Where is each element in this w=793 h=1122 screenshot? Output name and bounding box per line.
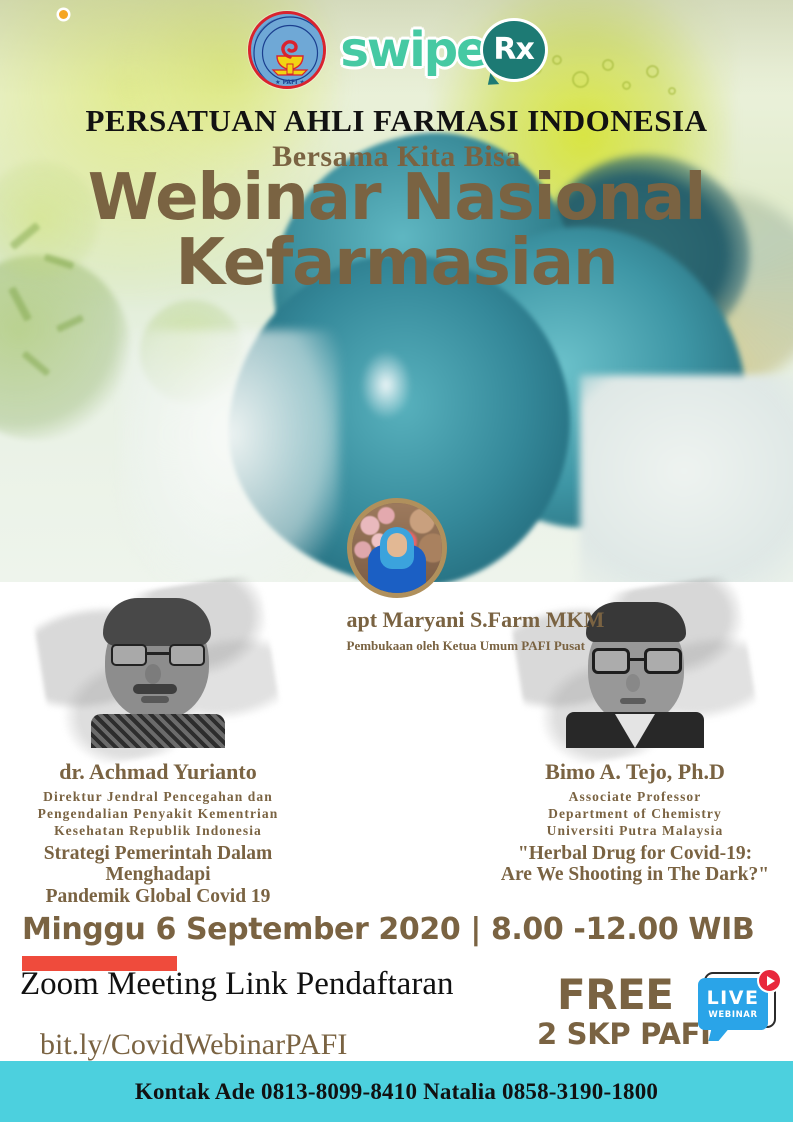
- avatar: [347, 498, 447, 598]
- registration-link[interactable]: bit.ly/CovidWebinarPAFI: [40, 1028, 347, 1062]
- platform-registration-line: Zoom Meeting Link Pendaftaran: [20, 966, 453, 1003]
- speaker-left-topic-line-2: Pandemik Global Covid 19: [8, 886, 308, 908]
- rx-bubble-icon: Rx: [483, 21, 545, 79]
- swipe-wordmark: swipe: [340, 26, 486, 74]
- svg-text:★ PAFI ★: ★ PAFI ★: [275, 79, 305, 86]
- badge-webinar-label: WEBINAR: [708, 1010, 757, 1020]
- speaker-left-topic: Strategi Pemerintah Dalam Menghadapi Pan…: [8, 843, 308, 908]
- webinar-poster: ★ PAFI ★ swipe Rx PERSATUAN AHLI FARMASI…: [0, 0, 793, 1122]
- speaker-right-topic: "Herbal Drug for Covid-19: Are We Shooti…: [485, 843, 785, 887]
- speaker-left-name: dr. Achmad Yurianto: [8, 759, 308, 785]
- lab-coat: [120, 330, 340, 585]
- contact-text: Kontak Ade 0813-8099-8410 Natalia 0858-3…: [135, 1079, 658, 1105]
- speaker-right-role-line-1: Associate Professor: [485, 789, 785, 806]
- speaker-right-role-line-3: Universiti Putra Malaysia: [485, 823, 785, 840]
- badge-live-label: LIVE: [707, 989, 760, 1008]
- speaker-left-topic-line-1: Strategi Pemerintah Dalam Menghadapi: [8, 843, 308, 887]
- speaker-left-photo: [43, 590, 273, 755]
- speaker-left-role-line-1: Direktur Jendral Pencegahan dan: [8, 789, 308, 806]
- speaker-right-role: Associate Professor Department of Chemis…: [485, 789, 785, 840]
- speaker-left-role-line-2: Pengendalian Penyakit Kementrian: [8, 806, 308, 823]
- organization-title: PERSATUAN AHLI FARMASI INDONESIA: [0, 103, 793, 139]
- speaker-right-topic-line-1: "Herbal Drug for Covid-19:: [485, 843, 785, 865]
- speaker-left-role: Direktur Jendral Pencegahan dan Pengenda…: [8, 789, 308, 840]
- speaker-right-topic-line-2: Are We Shooting in The Dark?": [485, 864, 785, 886]
- speaker-right-role-line-2: Department of Chemistry: [485, 806, 785, 823]
- speaker-left-role-line-3: Kesehatan Republik Indonesia: [8, 823, 308, 840]
- speaker-center: apt Maryani S.Farm MKM Pembukaan oleh Ke…: [347, 498, 447, 654]
- main-title-line-1: Webinar Nasional: [0, 168, 793, 229]
- event-date-time: Minggu 6 September 2020 | 8.00 -12.00 WI…: [22, 912, 754, 947]
- credits-label: 2 SKP PAFI: [537, 1017, 711, 1051]
- speaker-right-name: Bimo A. Tejo, Ph.D: [485, 759, 785, 785]
- pafi-logo-icon: ★ PAFI ★: [248, 11, 326, 89]
- main-title: Webinar Nasional Kefarmasian: [0, 168, 793, 294]
- speaker-right: Bimo A. Tejo, Ph.D Associate Professor D…: [485, 590, 785, 886]
- speaker-center-subtitle: Pembukaan oleh Ketua Umum PAFI Pusat: [347, 638, 447, 654]
- play-icon: [757, 968, 782, 993]
- main-title-line-2: Kefarmasian: [0, 233, 793, 294]
- poster-header: ★ PAFI ★ swipe Rx: [0, 6, 793, 94]
- rx-label: Rx: [493, 35, 533, 65]
- speaker-left-portrait: [89, 596, 227, 748]
- swipe-dot-icon: [59, 10, 68, 19]
- price-free-label: FREE: [557, 970, 673, 1019]
- speaker-center-name: apt Maryani S.Farm MKM: [347, 607, 447, 633]
- speaker-left: dr. Achmad Yurianto Direktur Jendral Pen…: [8, 590, 308, 908]
- swiperx-logo: swipe Rx: [340, 21, 544, 79]
- contact-footer: Kontak Ade 0813-8099-8410 Natalia 0858-3…: [0, 1061, 793, 1122]
- live-webinar-badge-icon: LIVE WEBINAR: [698, 968, 786, 1046]
